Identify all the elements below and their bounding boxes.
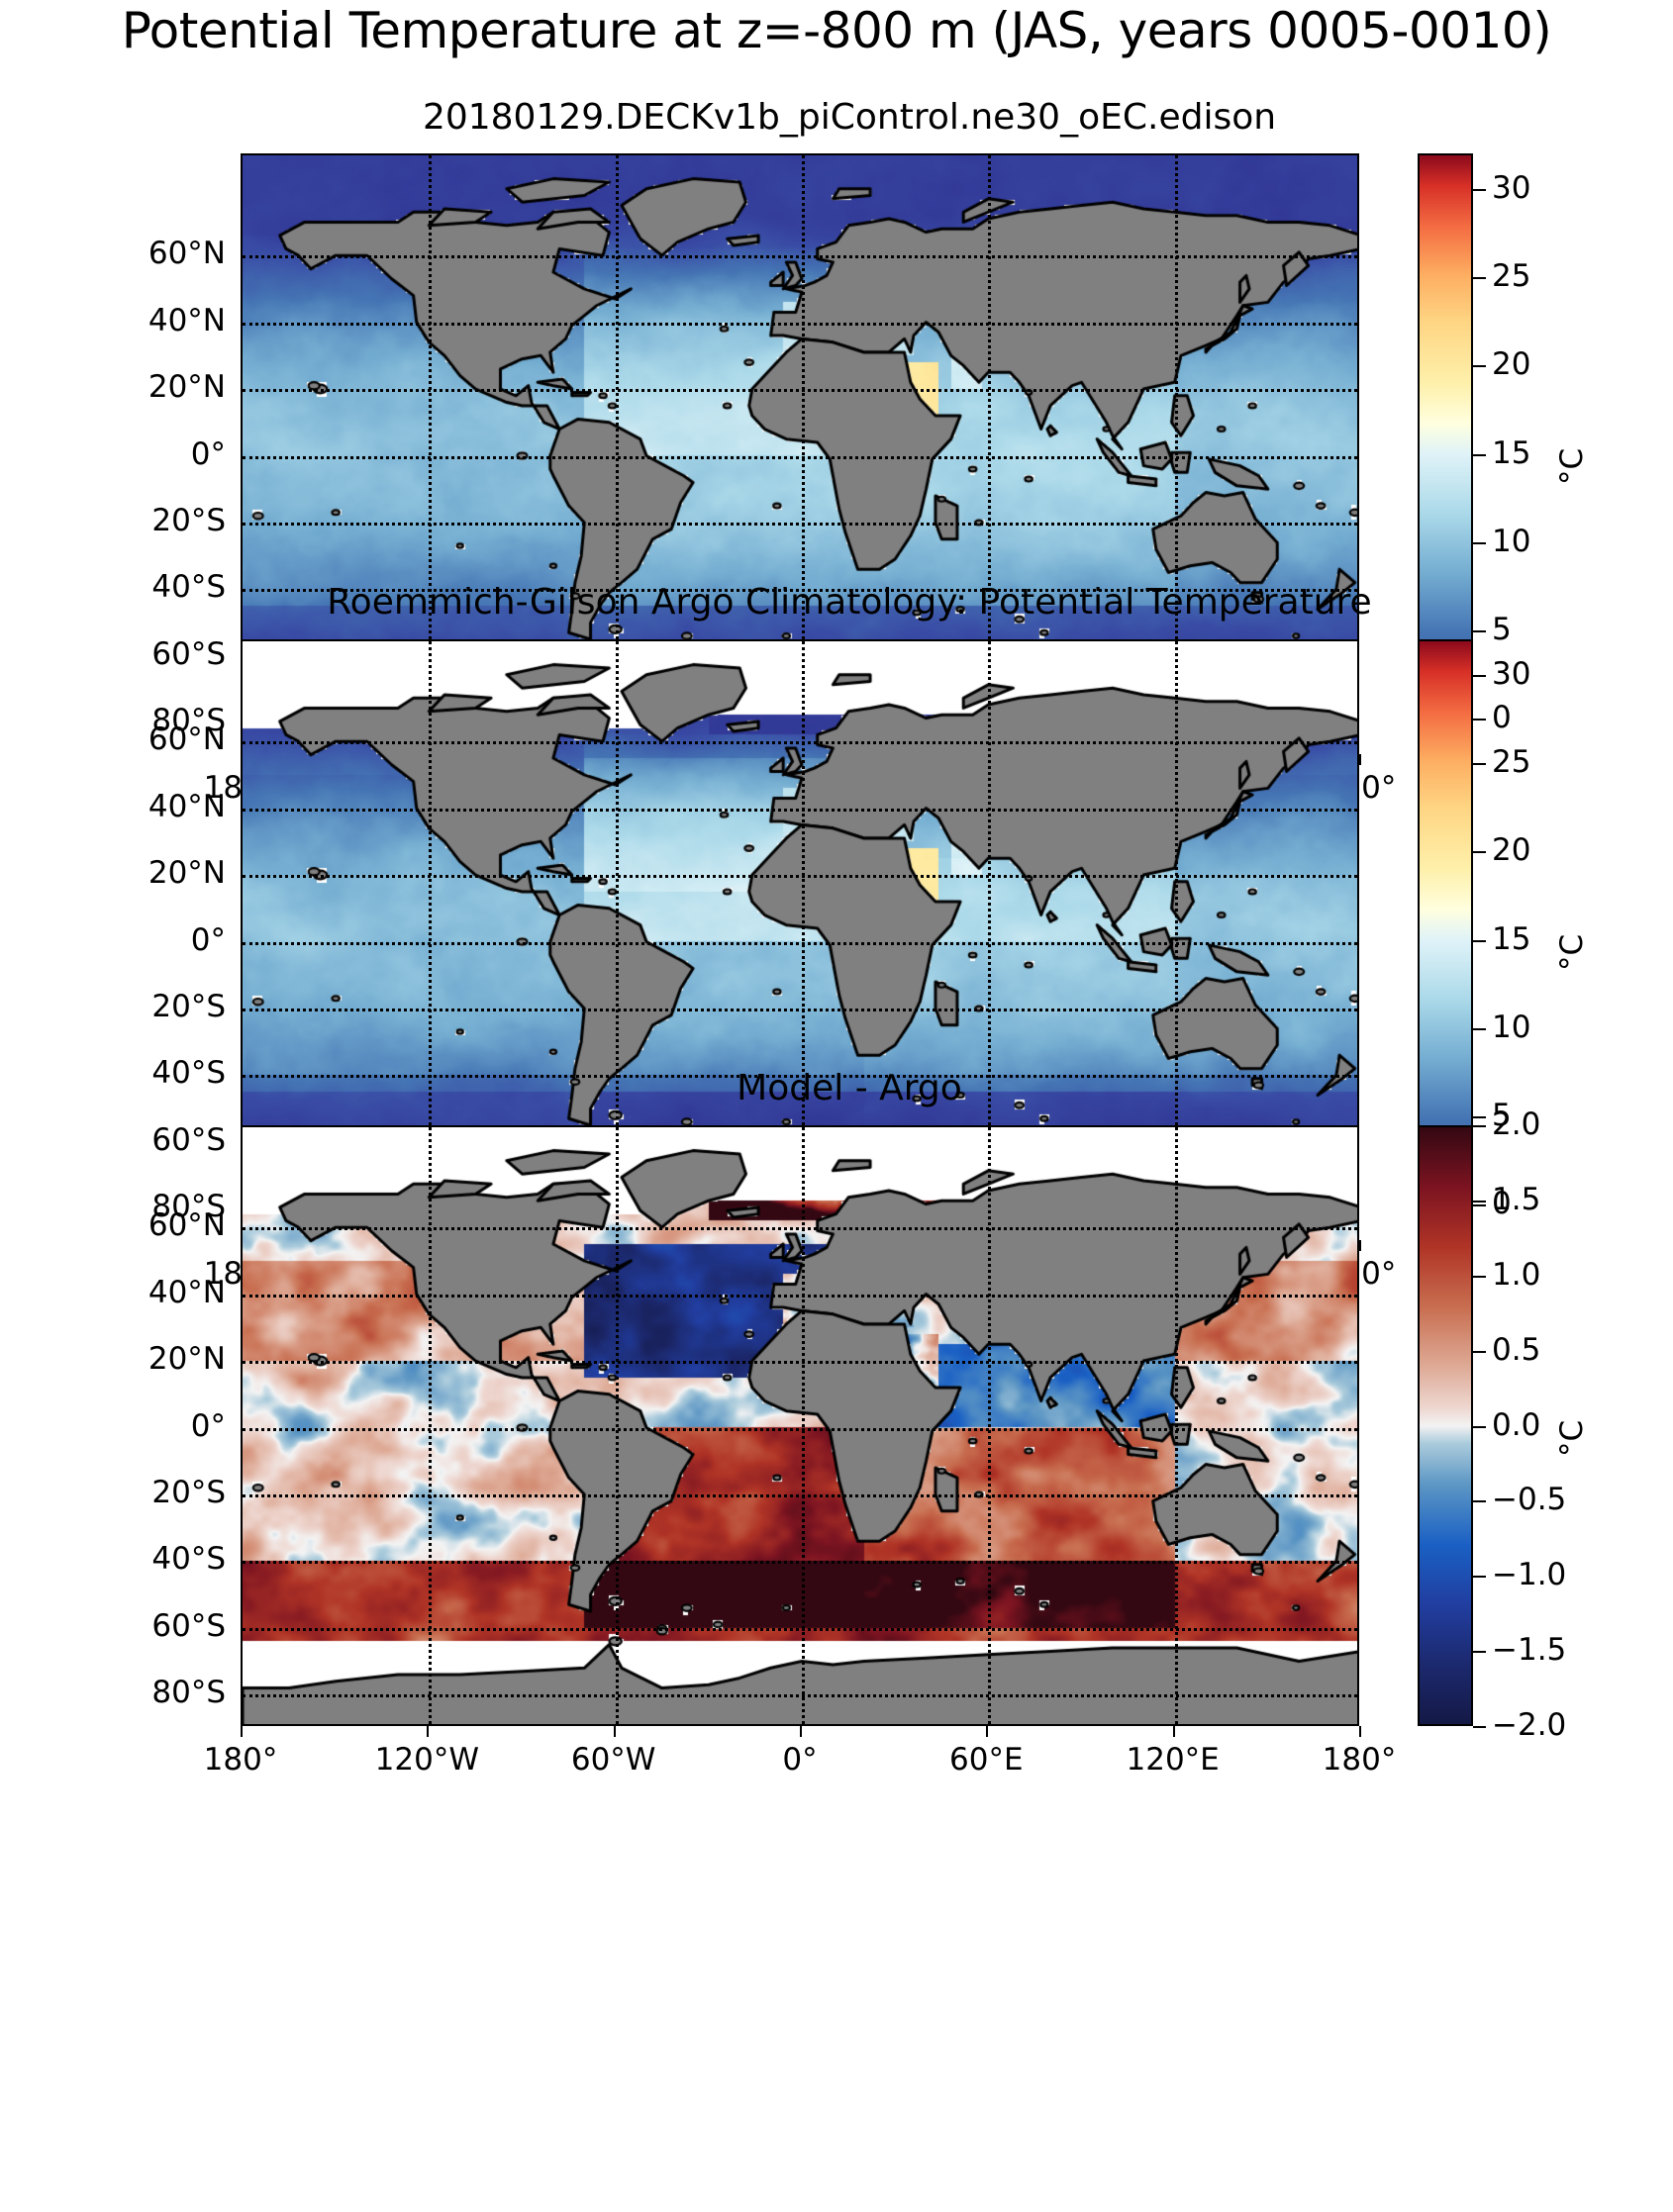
colorbar-tick [1473, 277, 1486, 279]
gridline-lat-0° [243, 456, 1357, 459]
x-tick [1173, 1726, 1175, 1737]
colorbar-tick-label: 15 [1492, 921, 1530, 957]
x-tick-label: 180° [1270, 1742, 1448, 1778]
colorbar-tick [1473, 630, 1486, 632]
gridline-lat-40°N [243, 809, 1357, 812]
x-tick-label: 120°W [338, 1742, 516, 1778]
colorbar-tick [1473, 454, 1486, 456]
gridline-lon-60°W [616, 1127, 619, 1724]
colorbar-tick [1473, 1576, 1486, 1578]
colorbar-difference[interactable] [1418, 1125, 1473, 1726]
y-tick-label: 20°S [0, 1475, 226, 1510]
y-tick-label: 20°N [0, 855, 226, 891]
colorbar-tick-label: 30 [1492, 170, 1530, 206]
colorbar-tick [1473, 1204, 1486, 1206]
gridline-lat-20°N [243, 875, 1357, 878]
x-tick-label: 60°E [897, 1742, 1075, 1778]
x-tick [1359, 754, 1361, 765]
y-tick-label: 40°S [0, 1055, 226, 1091]
y-tick-label: 0° [0, 436, 226, 472]
x-tick-label: 0° [711, 1742, 889, 1778]
map-canvas-difference [243, 1127, 1357, 1724]
colorbar-tick-label: 10 [1492, 524, 1530, 559]
colorbar-tick-label: 20 [1492, 832, 1530, 868]
colorbar-tick [1473, 189, 1486, 191]
x-tick-label: 120°E [1084, 1742, 1262, 1778]
colorbar-tick-label: 2.0 [1492, 1106, 1540, 1142]
colorbar-tick-label: 25 [1492, 744, 1530, 780]
gridline-lon-0° [802, 1127, 805, 1724]
y-tick-label: 60°S [0, 636, 226, 672]
colorbar-unit-difference: °C [1554, 1420, 1590, 1457]
x-tick [427, 1726, 429, 1737]
y-tick-label: 40°S [0, 569, 226, 605]
y-tick-label: 60°S [0, 1122, 226, 1158]
colorbar-unit-model: °C [1554, 448, 1590, 485]
x-tick [1359, 1726, 1361, 1737]
panel-title-model: 20180129.DECKv1b_piControl.ne30_oEC.edis… [241, 97, 1458, 138]
colorbar-tick [1473, 1500, 1486, 1502]
y-tick-label: 40°N [0, 789, 226, 824]
y-tick-label: 20°S [0, 503, 226, 538]
colorbar-tick-label: 5 [1492, 612, 1512, 647]
colorbar-tick [1473, 1116, 1486, 1118]
gridline-lat-40°S [243, 1561, 1357, 1564]
x-tick-label: 180° [151, 1742, 330, 1778]
y-tick-label: 20°S [0, 989, 226, 1024]
colorbar-tick [1473, 851, 1486, 853]
colorbar-tick [1473, 675, 1486, 677]
y-tick-label: 60°S [0, 1608, 226, 1644]
gridline-lon-120°E [1175, 1127, 1178, 1724]
x-tick-label: 60°W [525, 1742, 703, 1778]
x-tick [241, 1726, 243, 1737]
colorbar-tick-label: 0 [1492, 700, 1512, 735]
gridline-lat-0° [243, 942, 1357, 945]
colorbar-tick [1473, 542, 1486, 544]
colorbar-tick [1473, 365, 1486, 367]
y-tick-label: 20°N [0, 369, 226, 405]
colorbar-tick-label: 0.5 [1492, 1332, 1540, 1368]
gridline-lat-60°N [243, 741, 1357, 744]
colorbar-gradient-difference [1420, 1127, 1471, 1724]
y-tick-label: 40°N [0, 303, 226, 338]
map-axes-difference[interactable] [241, 1125, 1359, 1726]
x-tick [986, 1726, 988, 1737]
y-tick-label: 60°N [0, 236, 226, 271]
colorbar-tick-label: −1.0 [1492, 1557, 1566, 1592]
colorbar-tick-label: −0.5 [1492, 1482, 1566, 1517]
y-tick-label: 60°N [0, 721, 226, 757]
gridline-lat-20°S [243, 1009, 1357, 1011]
y-tick-label: 0° [0, 1408, 226, 1444]
colorbar-tick-label: 15 [1492, 435, 1530, 471]
y-tick-label: 40°N [0, 1275, 226, 1310]
colorbar-tick-label: 1.5 [1492, 1182, 1540, 1217]
x-tick [800, 1726, 802, 1737]
gridline-lat-20°S [243, 1494, 1357, 1497]
panel-title-argo: Roemmich-Gilson Argo Climatology: Potent… [241, 582, 1458, 623]
panel-title-difference: Model - Argo [241, 1068, 1458, 1108]
y-tick-label: 0° [0, 922, 226, 958]
colorbar-tick [1473, 1726, 1486, 1728]
gridline-lat-40°N [243, 1295, 1357, 1298]
colorbar-tick [1473, 1028, 1486, 1030]
gridline-lat-80°S [243, 1694, 1357, 1697]
colorbar-tick [1473, 763, 1486, 765]
colorbar-tick [1473, 1125, 1486, 1127]
colorbar-tick [1473, 1351, 1486, 1353]
gridline-lat-20°N [243, 1361, 1357, 1364]
colorbar-tick [1473, 1276, 1486, 1278]
gridline-lon-60°E [988, 1127, 991, 1724]
gridline-lat-60°N [243, 255, 1357, 258]
gridline-lat-0° [243, 1428, 1357, 1431]
colorbar-tick-label: 10 [1492, 1010, 1530, 1045]
gridlines-difference [243, 1127, 1357, 1724]
y-tick-label: 40°S [0, 1541, 226, 1577]
figure-canvas: Potential Temperature at z=-800 m (JAS, … [0, 0, 1673, 2212]
colorbar-tick [1473, 1651, 1486, 1653]
colorbar-tick-label: 30 [1492, 656, 1530, 692]
y-tick-label: 60°N [0, 1207, 226, 1243]
y-tick-label: 80°S [0, 1675, 226, 1710]
colorbar-tick [1473, 1426, 1486, 1428]
colorbar-tick-label: 25 [1492, 258, 1530, 294]
colorbar-tick [1473, 1201, 1486, 1202]
figure-suptitle: Potential Temperature at z=-800 m (JAS, … [0, 2, 1673, 59]
y-tick-label: 20°N [0, 1341, 226, 1377]
x-tick [1359, 1240, 1361, 1251]
colorbar-tick-label: 20 [1492, 346, 1530, 382]
colorbar-tick-label: −2.0 [1492, 1707, 1566, 1743]
colorbar-tick [1473, 940, 1486, 942]
gridline-lat-20°S [243, 523, 1357, 526]
gridline-lat-40°N [243, 323, 1357, 326]
gridline-lat-20°N [243, 389, 1357, 392]
colorbar-unit-argo: °C [1554, 934, 1590, 971]
colorbar-tick-label: 0.0 [1492, 1407, 1540, 1443]
gridline-lat-60°N [243, 1227, 1357, 1230]
colorbar-tick [1473, 719, 1486, 721]
gridline-lat-60°S [243, 1628, 1357, 1631]
gridline-lon-120°W [429, 1127, 432, 1724]
colorbar-tick-label: 1.0 [1492, 1257, 1540, 1293]
colorbar-tick-label: −1.5 [1492, 1632, 1566, 1668]
x-tick [614, 1726, 616, 1737]
